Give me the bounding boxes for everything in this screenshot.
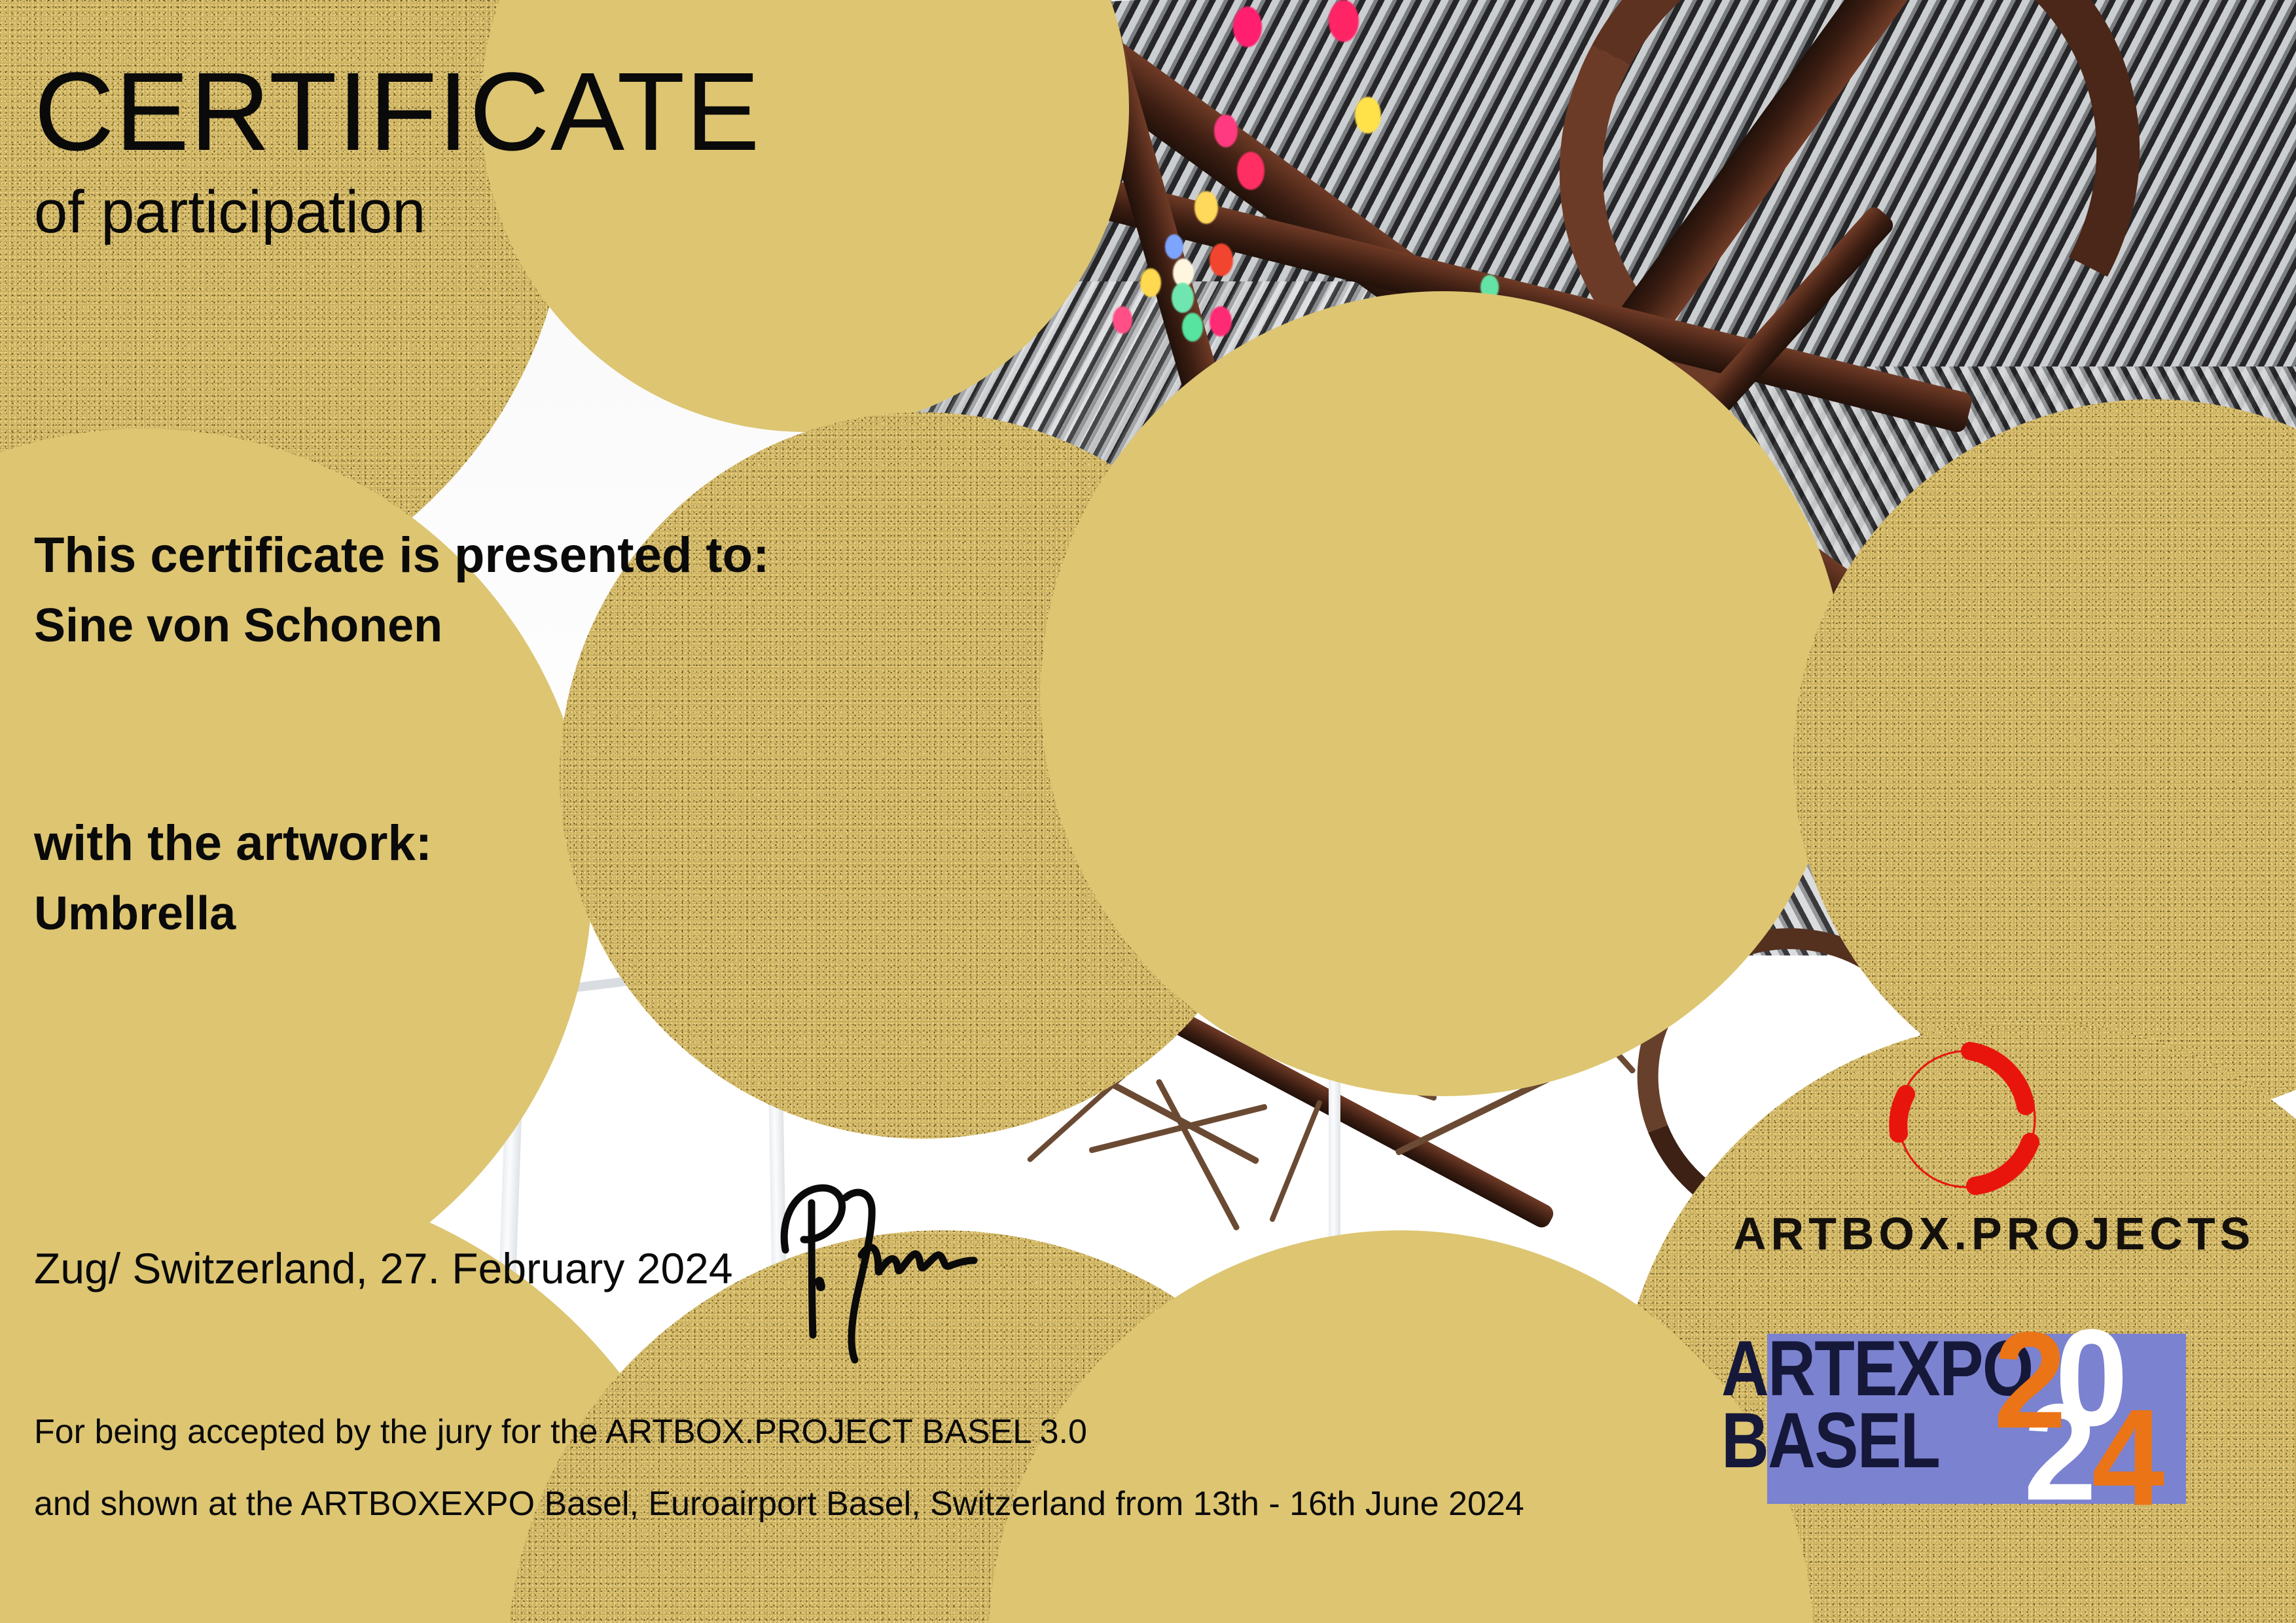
lamp-pink — [1233, 7, 1262, 47]
artexpo-line-2: BASEL — [1721, 1397, 1939, 1484]
lamp-pink — [1214, 115, 1238, 147]
artwork-label: with the artwork: — [34, 815, 432, 872]
lamp-yellow — [1140, 268, 1161, 297]
recipient-name: Sine von Schonen — [34, 599, 442, 652]
year-digit-4-orange: 4 — [2092, 1403, 2164, 1513]
lamp-yellow — [1194, 191, 1218, 224]
page-subtitle: of participation — [34, 182, 425, 242]
lamp-pink — [1329, 0, 1359, 42]
page-title: CERTIFICATE — [34, 56, 761, 168]
artbox-projects-wordmark: ARTBOX.PROJECTS — [1733, 1207, 2255, 1260]
artexpo-basel-wordmark: ARTEXPOBASEL — [1721, 1332, 2033, 1477]
artbox-broken-circle-icon — [1859, 1034, 2075, 1204]
artwork-title: Umbrella — [34, 887, 236, 940]
place-and-date: Zug/ Switzerland, 27. February 2024 — [34, 1243, 733, 1293]
lamp-green — [1182, 313, 1203, 342]
gold-circle-center-large — [1041, 291, 1846, 1096]
lamp-green — [1172, 283, 1194, 313]
certificate-page: CERTIFICATE of participation This certif… — [0, 0, 2296, 1623]
lamp-pink — [1113, 306, 1132, 334]
lamp-pink — [1237, 152, 1265, 190]
lamp-yellow — [1355, 97, 1381, 134]
lamp-red — [1210, 243, 1233, 276]
footer-line-2: and shown at the ARTBOXEXPO Basel, Euroa… — [34, 1484, 1524, 1524]
signature — [746, 1171, 1021, 1394]
presented-to-label: This certificate is presented to: — [34, 527, 769, 584]
lamp-pink — [1210, 306, 1232, 336]
artexpo-basel-logo: ARTEXPOBASEL 2 0 2 4 — [1728, 1322, 2199, 1525]
year-digit-2-orange: 2 — [1994, 1326, 2066, 1436]
footer-line-1: For being accepted by the jury for the A… — [34, 1412, 1087, 1452]
lamp-blue — [1165, 234, 1183, 259]
